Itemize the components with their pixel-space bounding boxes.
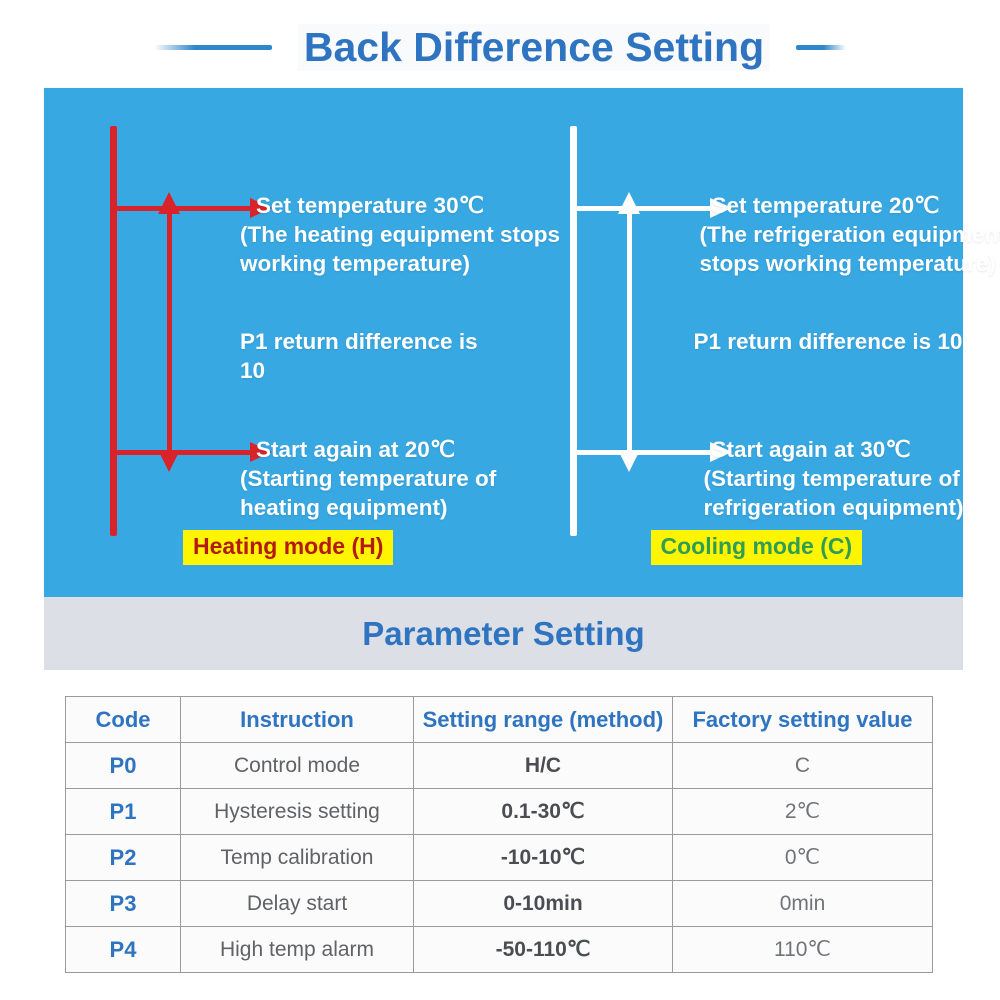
cell-value: 0℃: [673, 835, 933, 881]
table-row: P0 Control mode H/C C: [66, 743, 933, 789]
parameter-table: Code Instruction Setting range (method) …: [65, 696, 933, 973]
cell-range: 0-10min: [414, 881, 673, 927]
table-row: P4 High temp alarm -50-110℃ 110℃: [66, 927, 933, 973]
cell-instruction: Delay start: [181, 881, 414, 927]
parameter-table-body: P0 Control mode H/C C P1 Hysteresis sett…: [66, 743, 933, 973]
cell-range: -10-10℃: [414, 835, 673, 881]
column-header-code: Code: [66, 697, 181, 743]
cooling-hysteresis-double-arrow-icon: [627, 212, 632, 452]
cooling-restart-arrow-icon: [570, 450, 718, 455]
heating-hysteresis-double-arrow-icon: [167, 212, 172, 452]
cooling-set-temperature-label: Set temperature 20℃: [712, 192, 940, 221]
cooling-p1-return-difference: P1 return difference is 10: [694, 328, 963, 357]
page-title: Back Difference Setting: [298, 24, 770, 71]
table-row: P3 Delay start 0-10min 0min: [66, 881, 933, 927]
cell-code: P3: [66, 881, 181, 927]
cooling-set-temp-arrow-icon: [570, 206, 718, 211]
cooling-restart-temperature-note: (Starting temperature of refrigeration e…: [704, 465, 1000, 523]
cell-instruction: Control mode: [181, 743, 414, 789]
cell-value: 0min: [673, 881, 933, 927]
cell-range: 0.1-30℃: [414, 789, 673, 835]
title-rule-right-icon: [796, 45, 846, 50]
column-header-setting-range: Setting range (method): [414, 697, 673, 743]
back-difference-diagram: Set temperature 30℃ (The heating equipme…: [44, 88, 963, 597]
cell-instruction: Hysteresis setting: [181, 789, 414, 835]
cell-value: C: [673, 743, 933, 789]
cooling-restart-temperature-label: Start again at 30℃: [712, 436, 911, 465]
table-row: P1 Hysteresis setting 0.1-30℃ 2℃: [66, 789, 933, 835]
cell-code: P0: [66, 743, 181, 789]
cell-value: 2℃: [673, 789, 933, 835]
heating-mode-badge: Heating mode (H): [183, 530, 393, 565]
heating-set-temp-arrow-icon: [110, 206, 258, 211]
cooling-set-temperature-note: (The refrigeration equipment stops worki…: [700, 221, 1000, 279]
cell-range: -50-110℃: [414, 927, 673, 973]
cell-instruction: Temp calibration: [181, 835, 414, 881]
heating-axis-line: [110, 126, 117, 536]
column-header-instruction: Instruction: [181, 697, 414, 743]
heating-restart-temperature-label: Start again at 20℃: [256, 436, 455, 465]
cell-instruction: High temp alarm: [181, 927, 414, 973]
title-rule-left-icon: [154, 45, 272, 50]
heating-diagram: Set temperature 30℃ (The heating equipme…: [44, 88, 504, 597]
cell-value: 110℃: [673, 927, 933, 973]
parameter-setting-band: Parameter Setting: [44, 597, 963, 670]
heating-restart-arrow-icon: [110, 450, 258, 455]
cell-range: H/C: [414, 743, 673, 789]
parameter-setting-title: Parameter Setting: [362, 615, 644, 653]
cell-code: P2: [66, 835, 181, 881]
cooling-axis-line: [570, 126, 577, 536]
cooling-diagram: Set temperature 20℃ (The refrigeration e…: [504, 88, 964, 597]
table-header-row: Code Instruction Setting range (method) …: [66, 697, 933, 743]
heating-p1-return-difference: P1 return difference is 10: [240, 328, 504, 386]
cell-code: P1: [66, 789, 181, 835]
column-header-factory-value: Factory setting value: [673, 697, 933, 743]
cell-code: P4: [66, 927, 181, 973]
heating-set-temperature-label: Set temperature 30℃: [256, 192, 484, 221]
table-row: P2 Temp calibration -10-10℃ 0℃: [66, 835, 933, 881]
page-header: Back Difference Setting: [0, 18, 1000, 76]
cooling-mode-badge: Cooling mode (C): [651, 530, 863, 565]
